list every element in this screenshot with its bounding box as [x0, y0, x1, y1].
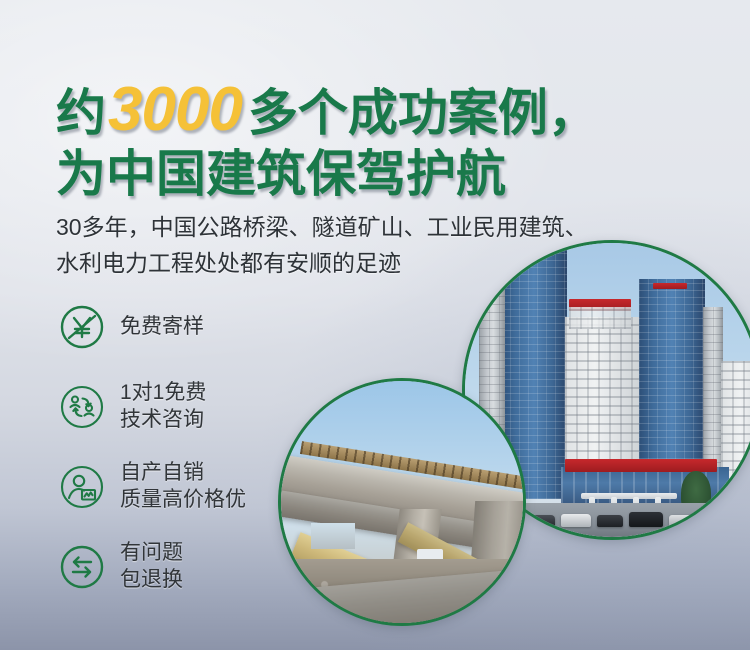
one-on-one-consult-icon [58, 383, 106, 431]
roof-sign-right [653, 283, 687, 289]
headline-number: 3000 [106, 75, 248, 144]
center-parapet [569, 307, 631, 329]
no-fee-yuan-icon [58, 303, 106, 351]
feature-label: 有问题 包退换 [120, 540, 183, 594]
exchange-return-icon [58, 543, 106, 591]
feature-line-2: 包退换 [120, 567, 183, 594]
headline-line-1: 约3000多个成功案例， [56, 78, 716, 141]
feature-line-1: 有问题 [120, 541, 183, 564]
feature-line-2: 质量高价格优 [120, 487, 246, 514]
feature-line-1: 免费寄样 [120, 315, 204, 338]
feature-line-1: 1对1免费 [120, 381, 206, 404]
feature-label: 免费寄样 [120, 314, 204, 341]
headline-suffix: 多个成功案例， [248, 85, 598, 141]
car [531, 515, 555, 527]
feature-label: 自产自销 质量高价格优 [120, 460, 246, 514]
feature-list: 免费寄样 1对1免费 技术咨询 [58, 296, 358, 616]
feature-line-1: 自产自销 [120, 461, 204, 484]
roof-sign-left [515, 249, 553, 256]
promo-banner: 约3000多个成功案例， 为中国建筑保驾护航 30多年，中国公路桥梁、隧道矿山、… [0, 0, 750, 650]
feature-item[interactable]: 免费寄样 [58, 296, 358, 358]
feature-item[interactable]: 有问题 包退换 [58, 536, 358, 598]
car [597, 515, 623, 527]
car [669, 515, 695, 527]
headline-prefix: 约 [56, 85, 106, 141]
entry-canopy [581, 493, 677, 499]
headline: 约3000多个成功案例， 为中国建筑保驾护航 [56, 78, 716, 200]
feature-label: 1对1免费 技术咨询 [120, 380, 206, 434]
self-production-chart-icon [58, 463, 106, 511]
car [561, 514, 591, 527]
feature-item[interactable]: 1对1免费 技术咨询 [58, 376, 358, 438]
feature-item[interactable]: 自产自销 质量高价格优 [58, 456, 358, 518]
car [629, 512, 663, 527]
feature-line-2: 技术咨询 [120, 407, 206, 434]
headline-line-2: 为中国建筑保驾护航 [56, 149, 716, 200]
